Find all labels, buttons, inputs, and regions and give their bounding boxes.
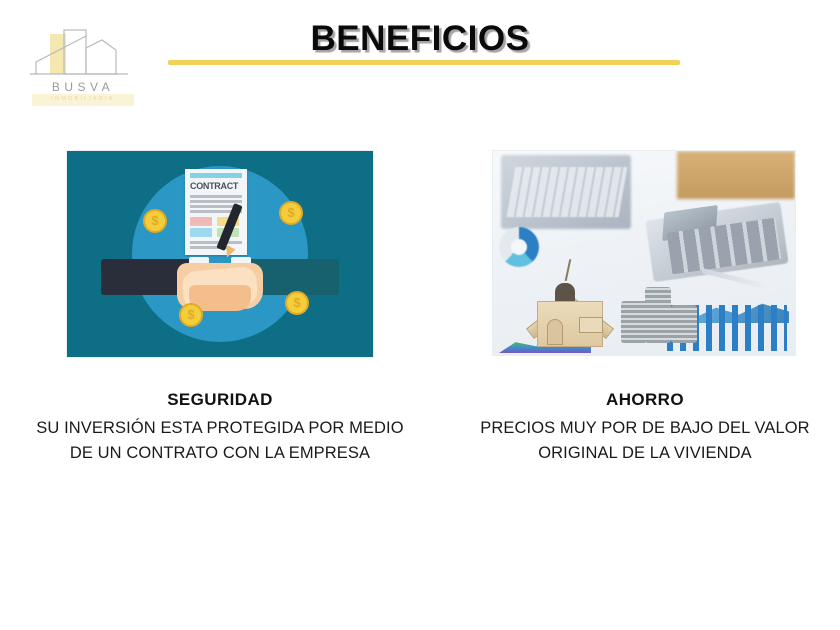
benefit-heading: SEGURIDAD xyxy=(30,390,410,410)
wooden-house-model-icon xyxy=(527,261,613,347)
coin-stack xyxy=(645,287,671,343)
document-text-line xyxy=(190,205,234,208)
logo-tagline: INMOBILIARIA xyxy=(24,96,142,102)
house-attic-window xyxy=(555,283,575,301)
dollar-coin-icon: $ xyxy=(143,209,167,233)
benefit-body: SU INVERSIÓN ESTA PROTEGIDA POR MEDIO DE… xyxy=(30,416,410,466)
document-text-line xyxy=(190,200,242,203)
laptop-keyboard xyxy=(507,167,628,217)
handshake-contract-illustration: CONTRACT $ $ $ $ xyxy=(66,150,374,358)
house-antenna xyxy=(565,259,571,281)
benefit-body: PRECIOS MUY POR DE BAJO DEL VALOR ORIGIN… xyxy=(455,416,835,466)
document-form-chip xyxy=(190,228,212,237)
benefit-heading: AHORRO xyxy=(455,390,835,410)
document-header-bar xyxy=(190,173,242,178)
caption-seguridad: SEGURIDAD SU INVERSIÓN ESTA PROTEGIDA PO… xyxy=(30,390,410,466)
document-form-chip xyxy=(190,217,212,226)
document-title: CONTRACT xyxy=(190,181,238,191)
coin-stack xyxy=(671,305,697,343)
wooden-surface xyxy=(677,151,795,199)
page-title: BENEFICIOS xyxy=(0,19,840,59)
house-window xyxy=(579,317,603,333)
benefit-card-seguridad: CONTRACT $ $ $ $ xyxy=(66,150,374,358)
coin-stack xyxy=(621,301,647,343)
title-underline-rule xyxy=(168,60,680,65)
document-text-line xyxy=(190,241,242,244)
logo-name: BUSVA xyxy=(24,80,142,94)
benefit-card-ahorro xyxy=(492,150,796,356)
house-model-coins-calculator-photo xyxy=(492,150,796,356)
dollar-coin-icon: $ xyxy=(285,291,309,315)
caption-ahorro: AHORRO PRECIOS MUY POR DE BAJO DEL VALOR… xyxy=(455,390,835,466)
dollar-coin-icon: $ xyxy=(179,303,203,327)
dollar-coin-icon: $ xyxy=(279,201,303,225)
house-door xyxy=(547,319,563,345)
document-text-line xyxy=(190,195,242,198)
